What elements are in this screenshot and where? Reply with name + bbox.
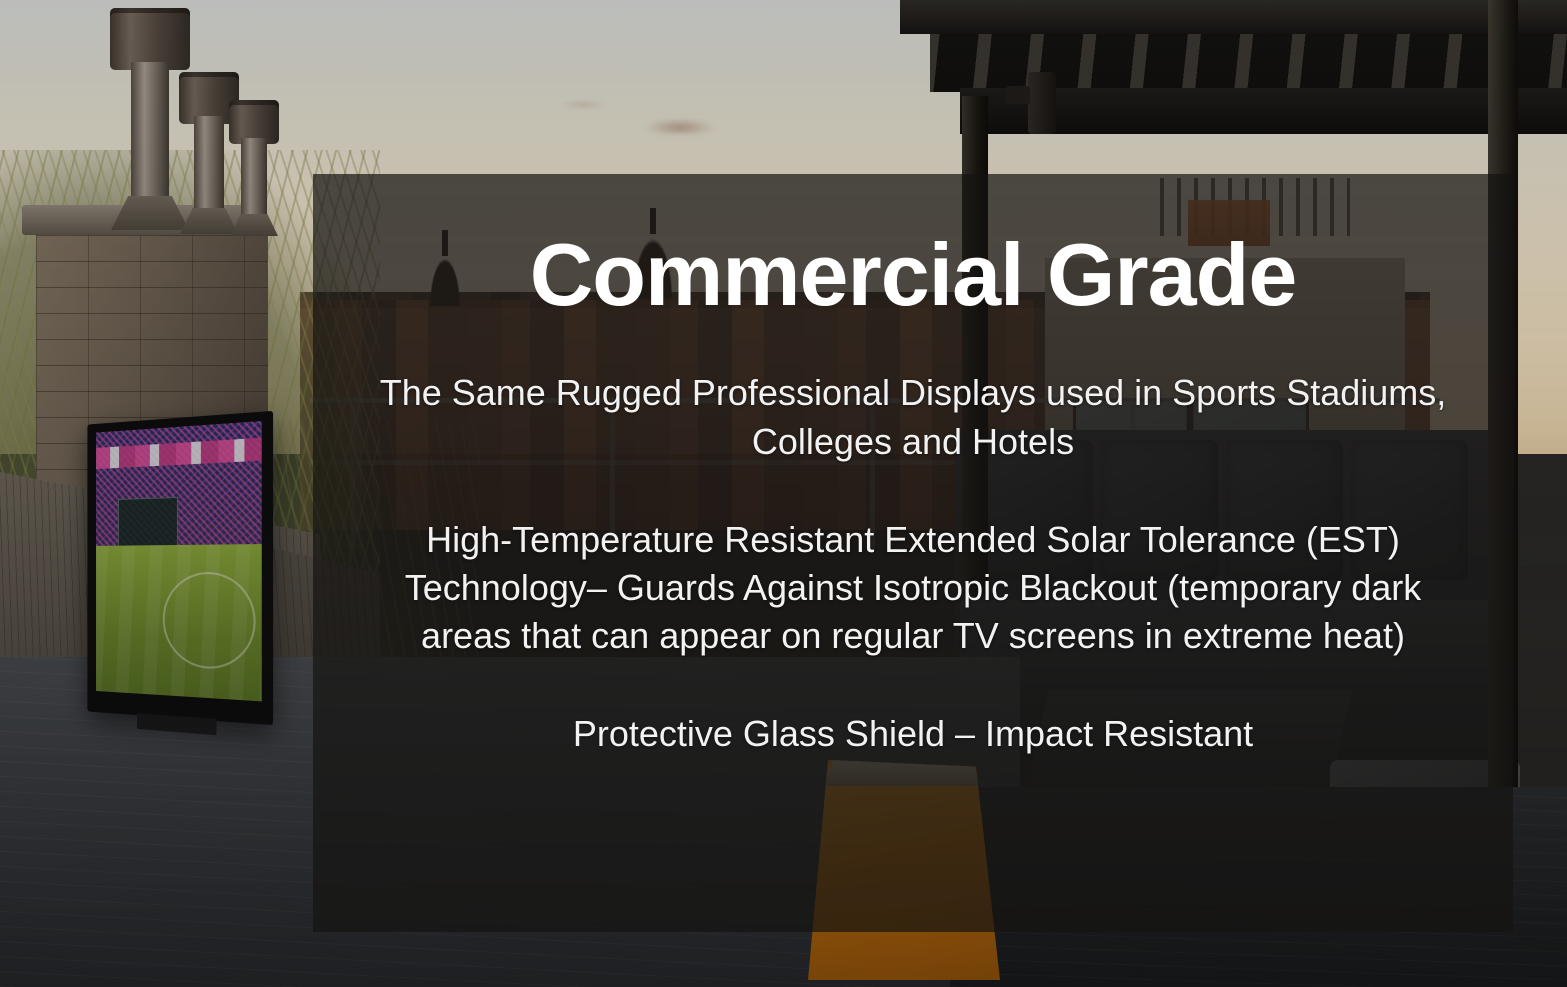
text-overlay-panel: Commercial Grade The Same Rugged Profess… (313, 174, 1513, 932)
feature-paragraph-est-technology: High-Temperature Resistant Extended Sola… (359, 516, 1467, 661)
feature-paragraph-displays: The Same Rugged Professional Displays us… (359, 369, 1467, 465)
feature-paragraph-glass-shield: Protective Glass Shield – Impact Resista… (573, 710, 1253, 758)
page-title: Commercial Grade (530, 228, 1297, 321)
promo-banner: Commercial Grade The Same Rugged Profess… (0, 0, 1567, 987)
